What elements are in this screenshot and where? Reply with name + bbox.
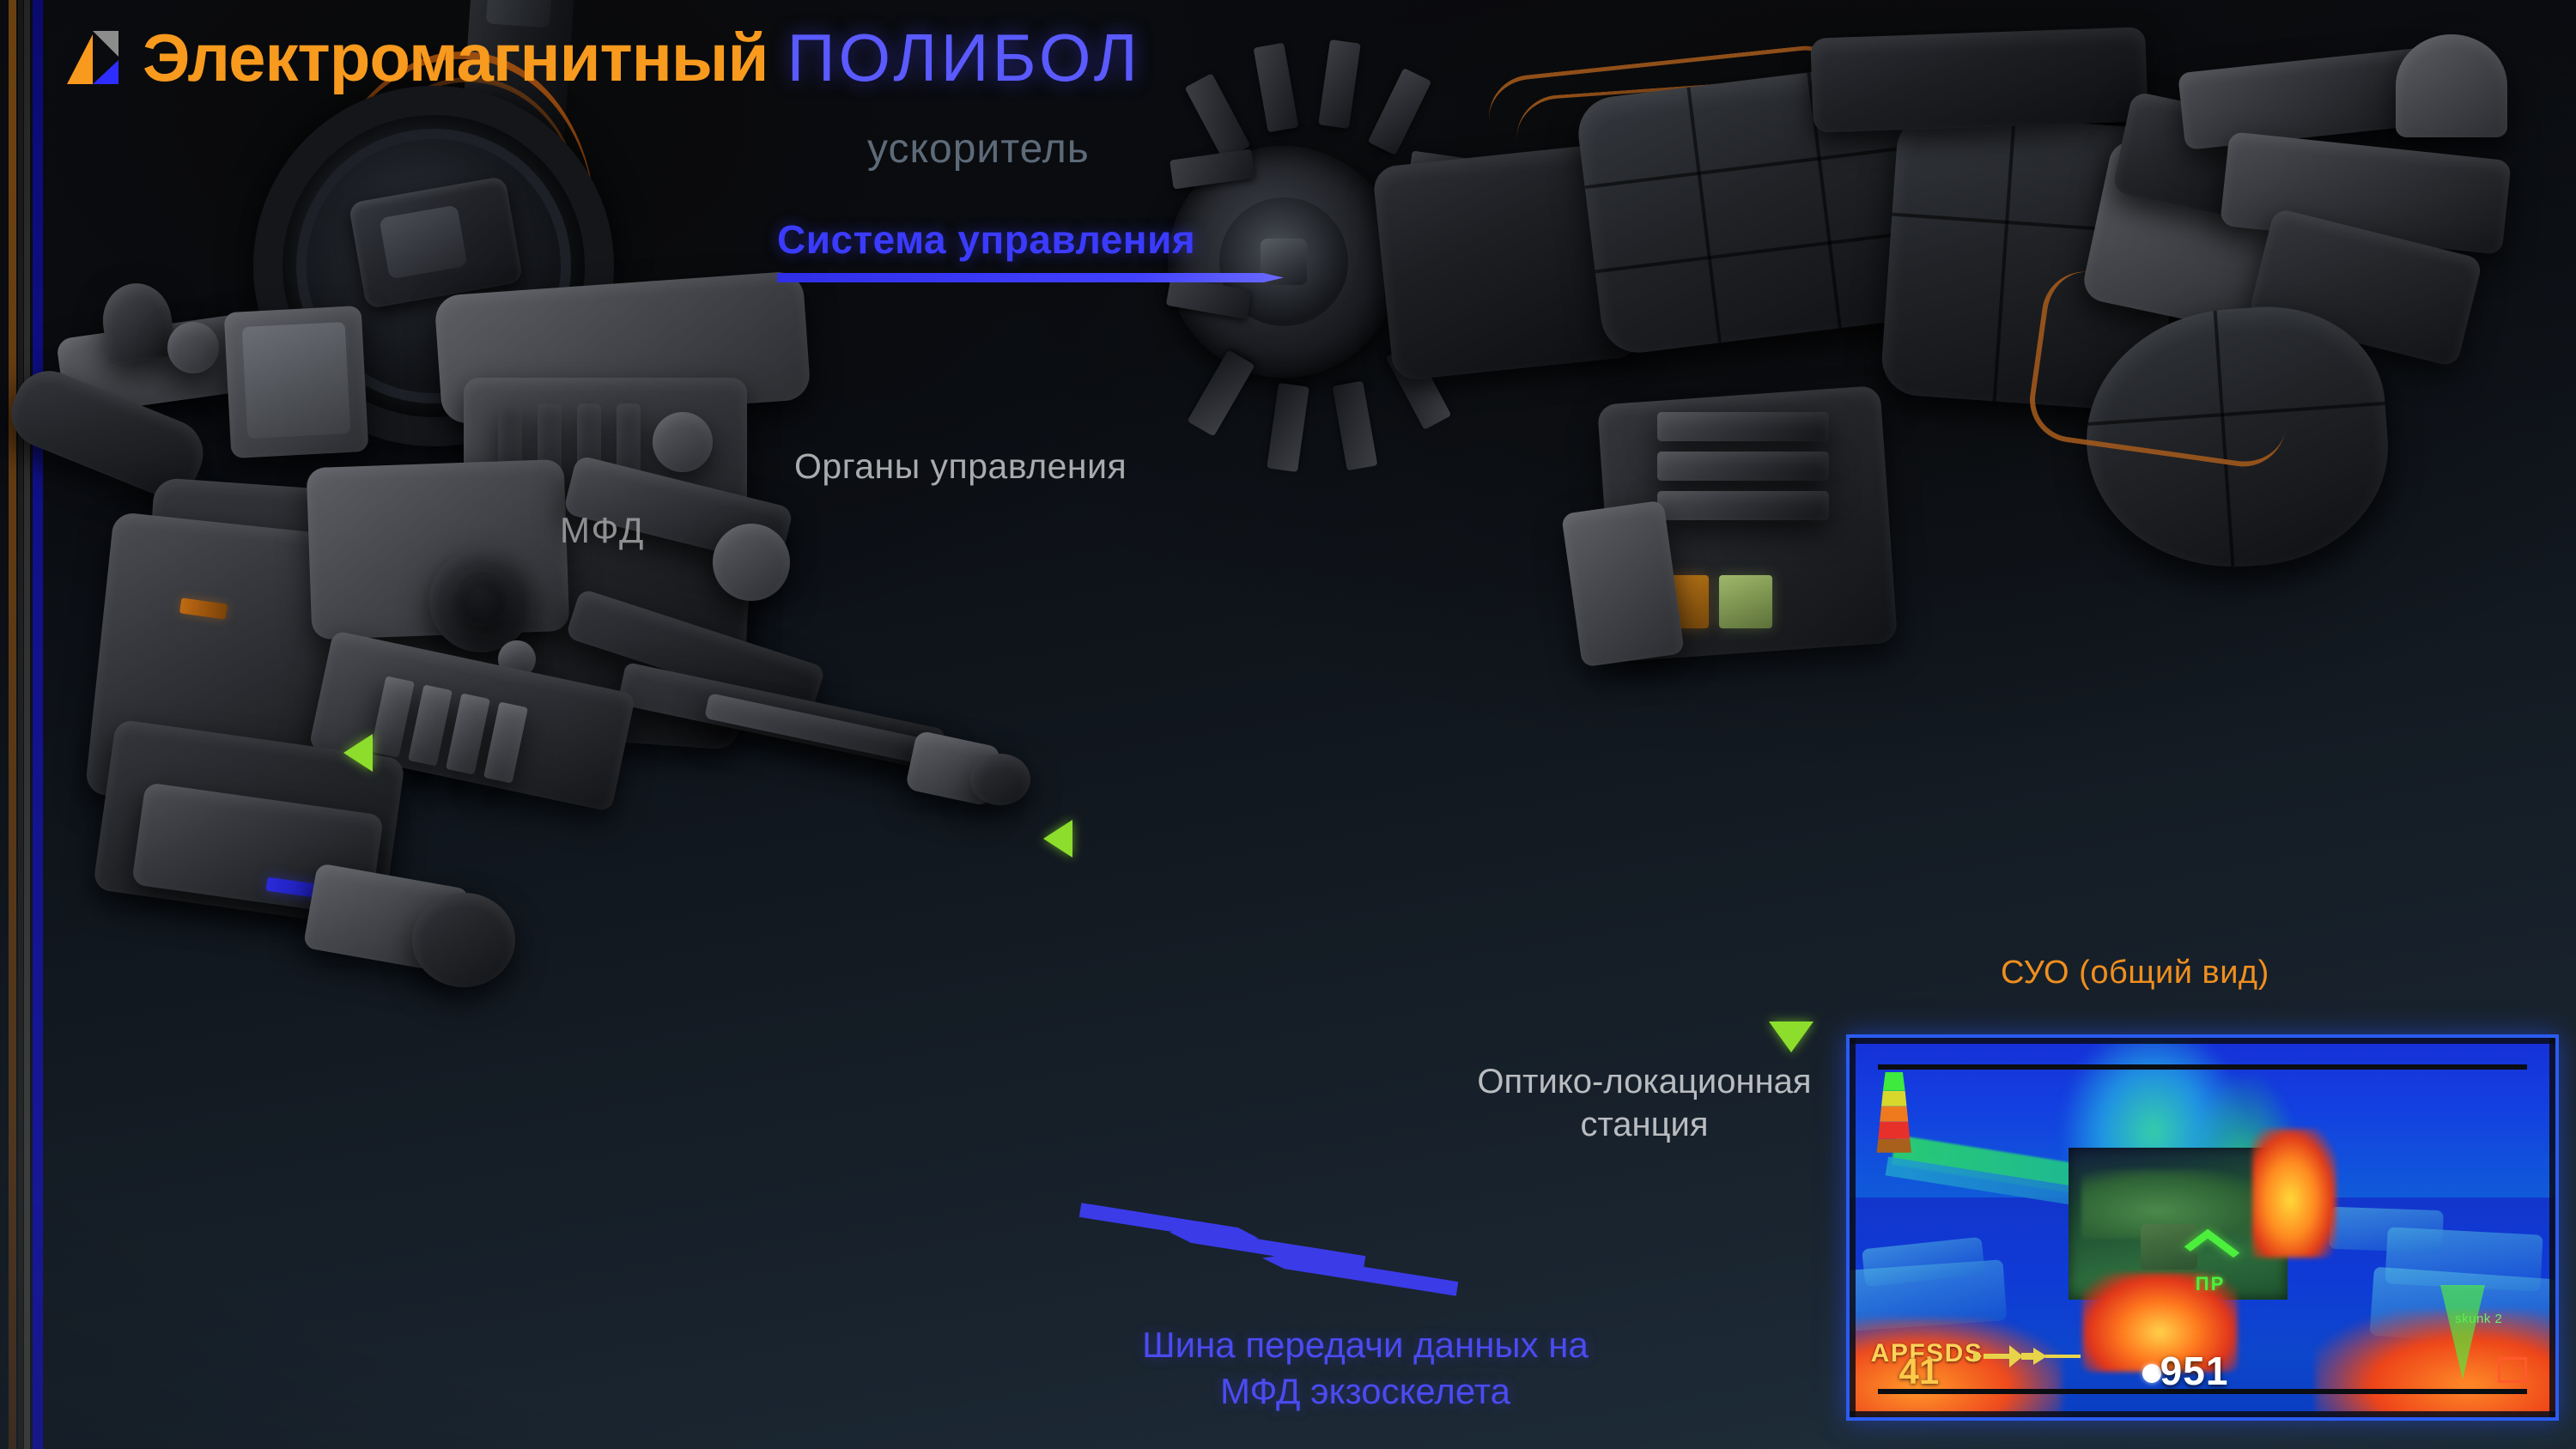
- section-heading-block: Система управления: [777, 216, 1284, 282]
- thermal-frame-edge-bottom: [1850, 1411, 2555, 1417]
- edge-stripe-blue: [33, 0, 43, 1449]
- hud-ammo-count: 41: [1899, 1351, 1940, 1392]
- hud-target-cone-icon: [2440, 1285, 2485, 1379]
- edge-stripe-orange: [9, 0, 16, 1449]
- callout-label-optical-station: Оптико-локационная станция: [1443, 1060, 1846, 1146]
- callout-label-controls: Органы управления: [794, 446, 1127, 487]
- thermal-fire-signature: [2252, 1129, 2337, 1258]
- thermal-frame-edge-left: [1850, 1038, 1856, 1417]
- edge-stripe-gray: [24, 0, 30, 1449]
- data-bus-arrows: [979, 1197, 1511, 1326]
- section-heading-label: Система управления: [777, 216, 1284, 263]
- exoskeleton-arm-render: [1211, 26, 2550, 936]
- callout-label-mfd: МФД: [560, 510, 646, 551]
- section-heading-rule: [777, 273, 1284, 282]
- page-title-accent: ПОЛИБОЛ: [787, 24, 1140, 91]
- green-marker-icon-stick: [1043, 820, 1072, 858]
- green-marker-icon-optical: [1769, 1022, 1814, 1052]
- apfsds-dart-icon: [1973, 1345, 2081, 1367]
- thermal-frame-bar-top: [1878, 1064, 2527, 1070]
- slide-root: Электромагнитный ПОЛИБОЛ ускоритель Сист…: [0, 0, 2576, 1449]
- fire-control-thermal-display[interactable]: ПР APFSDS 41 951 skunk 2: [1846, 1034, 2559, 1421]
- hud-range-value: 951: [2160, 1348, 2229, 1394]
- hud-target-box-icon: [2498, 1357, 2527, 1383]
- callout-label-fire-control: СУО (общий вид): [2001, 955, 2269, 991]
- thermal-frame-edge-top: [1850, 1038, 2555, 1044]
- callout-label-data-bus: Шина передачи данных на МФД экзоскелета: [1116, 1322, 1614, 1415]
- title-block: Электромагнитный ПОЛИБОЛ: [67, 24, 1141, 91]
- edge-stripe-dark: [18, 0, 23, 1449]
- title-subtitle: ускоритель: [867, 125, 1090, 173]
- edge-stripes: [0, 0, 52, 1449]
- thermal-vehicle-right-2: [2329, 1207, 2443, 1252]
- thermal-hotspot-left: [1846, 1319, 2062, 1417]
- thermal-frame-edge-right: [2549, 1038, 2555, 1417]
- thermal-palette-scale: [1874, 1072, 1914, 1167]
- brand-logo-icon: [67, 31, 120, 84]
- thermal-reticle-label: ПР: [2196, 1273, 2226, 1295]
- green-marker-icon-controls: [343, 734, 373, 772]
- page-title: Электромагнитный: [143, 24, 768, 91]
